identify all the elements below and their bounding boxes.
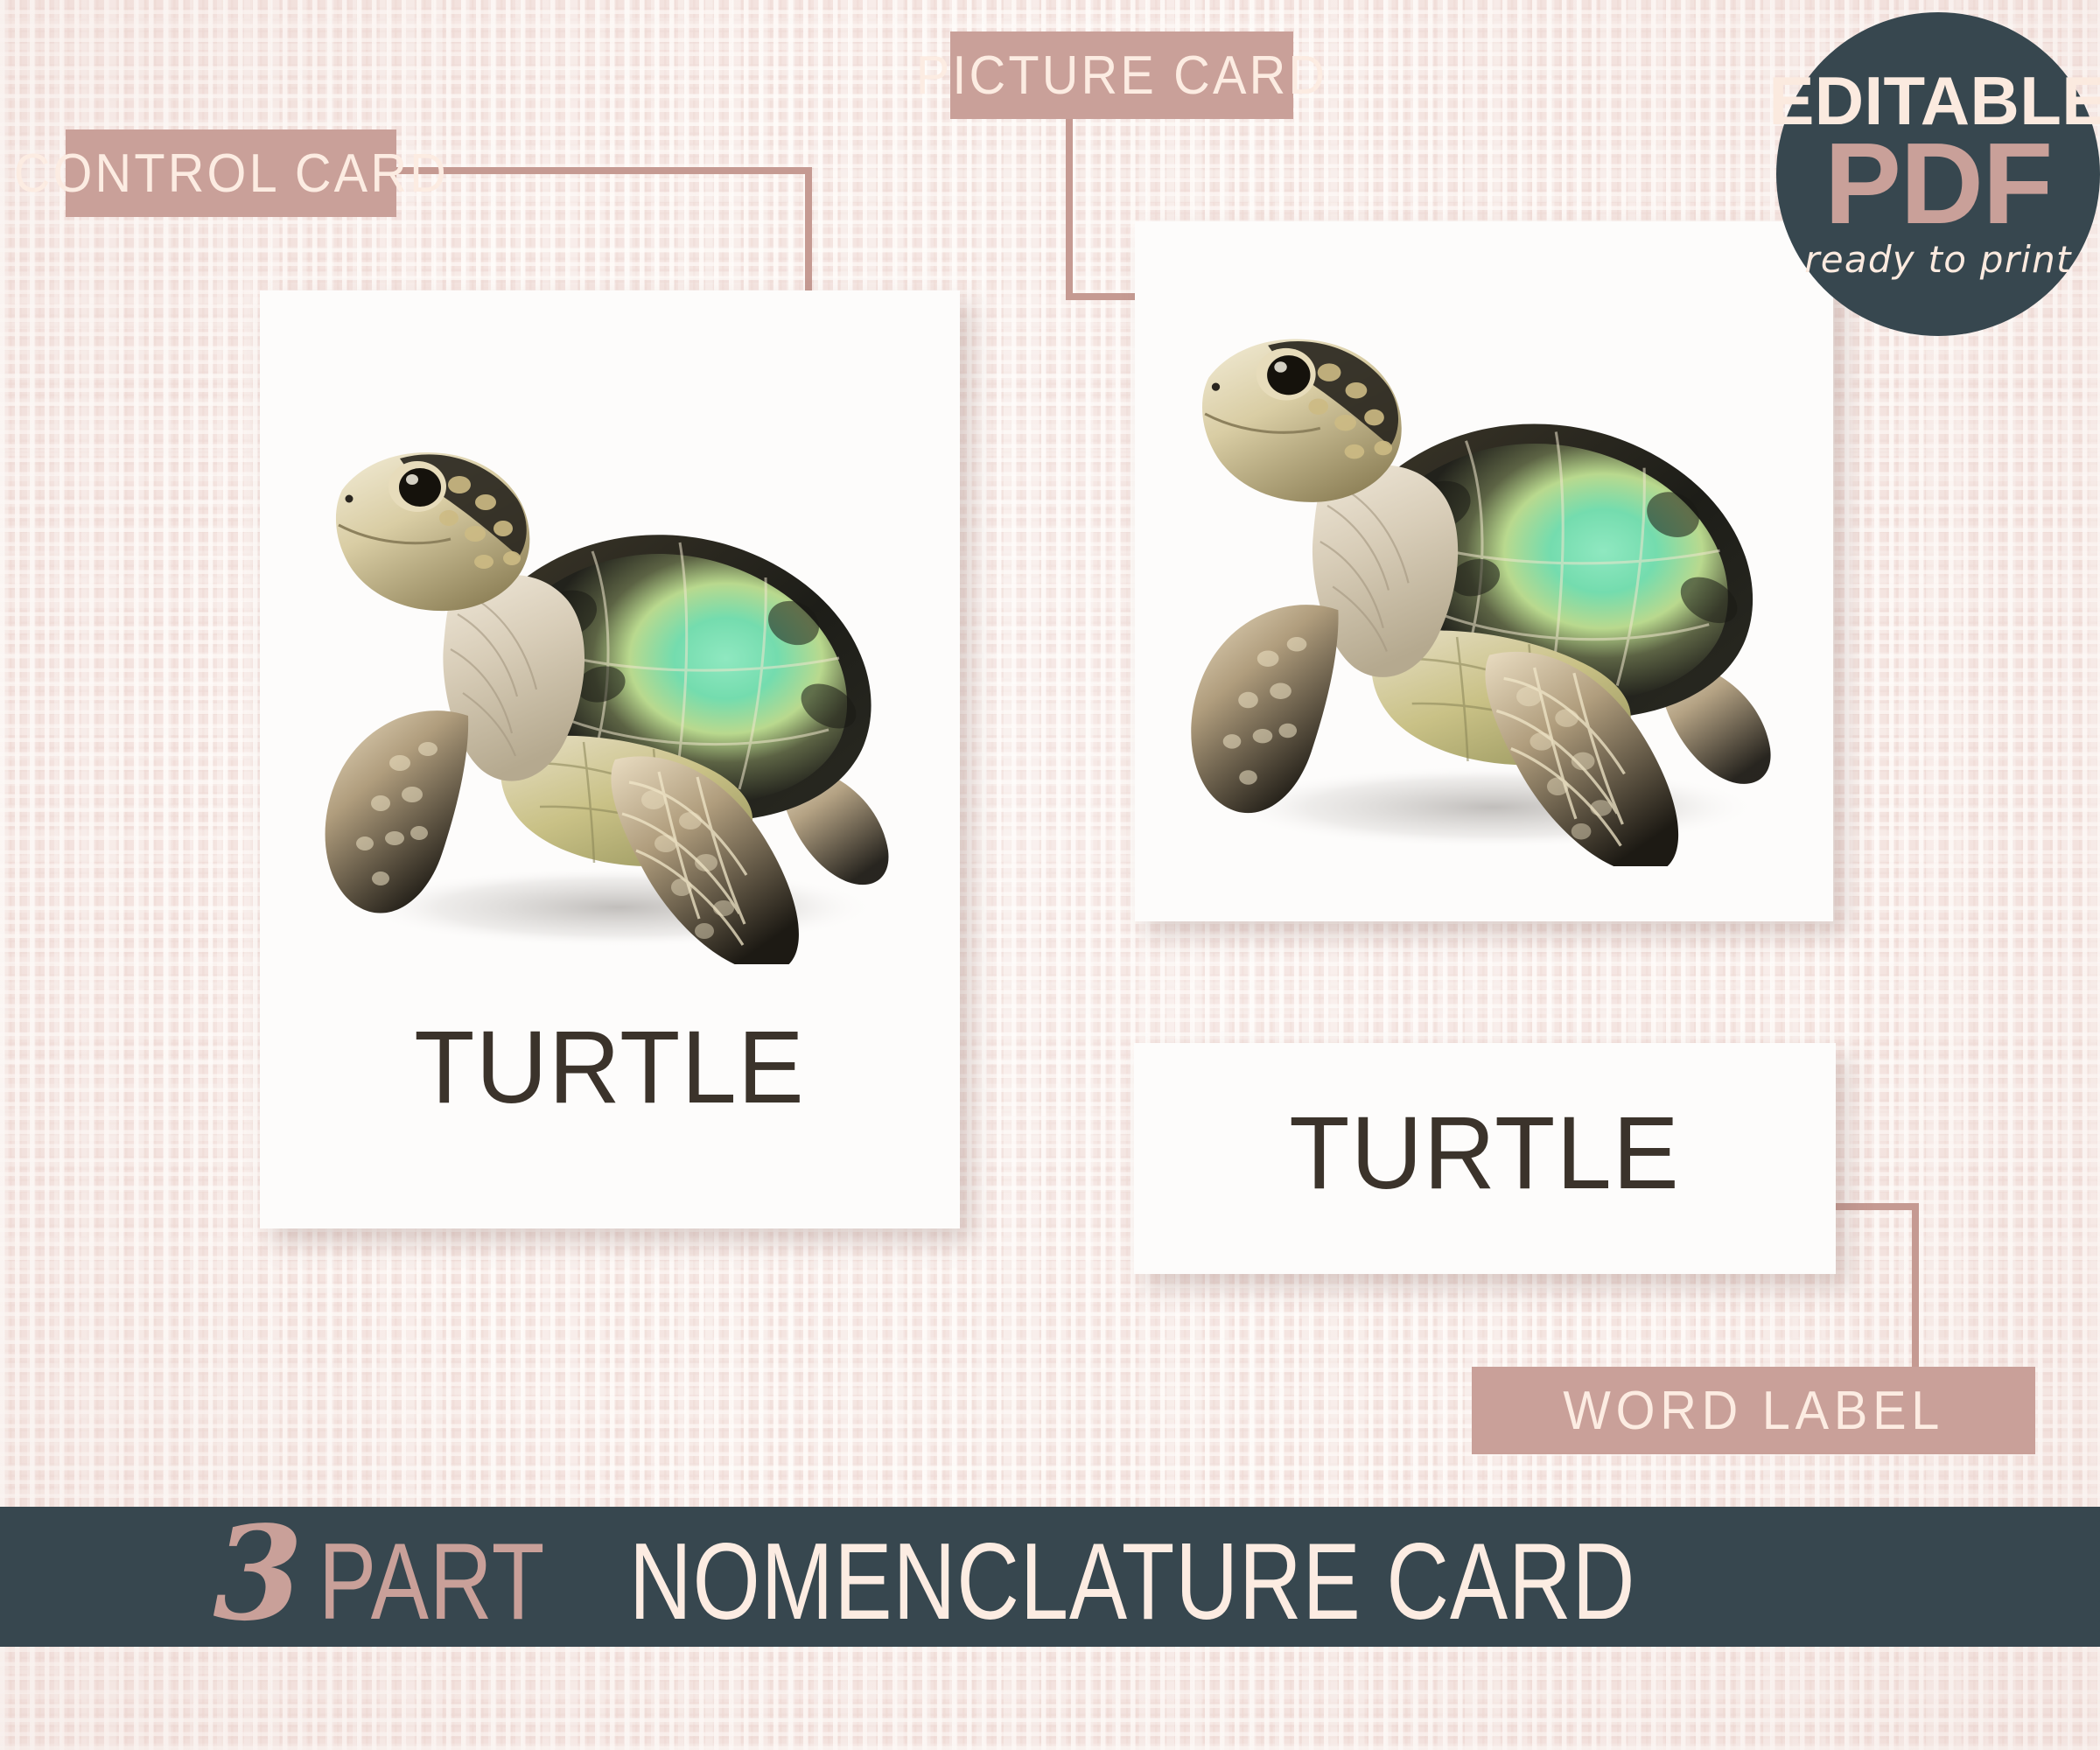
banner-title-text: NOMENCLATURE CARD [629, 1528, 1635, 1636]
banner-title-label: NOMENCLATURE CARD [629, 1528, 1887, 1636]
sea-turtle-icon [304, 395, 916, 964]
sea-turtle-icon [1169, 280, 1799, 866]
callout-picture-card[interactable]: PICTURE CARD [950, 31, 1293, 119]
picture-card[interactable] [1135, 221, 1833, 921]
word-label-card-word: TURTLE [1134, 1094, 1836, 1213]
connector-picture-vertical [1066, 112, 1073, 300]
callout-control-card-label: CONTROL CARD [13, 143, 448, 205]
badge-ready-to-print-label: ready to print [1804, 238, 2072, 281]
banner-part-text: PART [318, 1528, 545, 1636]
callout-word-label[interactable]: WORD LABEL [1472, 1367, 2035, 1454]
poster-canvas: CONTROL CARD PICTURE CARD WORD LABEL [0, 0, 2100, 1750]
connector-word-vertical [1912, 1203, 1919, 1374]
control-card-word-text: TURTLE [415, 1008, 806, 1127]
word-label-card-word-text: TURTLE [1290, 1094, 1681, 1213]
connector-control-horizontal [396, 167, 812, 174]
banner-part-label: PART [318, 1528, 602, 1636]
bottom-banner: 3 PART NOMENCLATURE CARD [0, 1507, 2100, 1647]
control-card-word: TURTLE [260, 1008, 960, 1127]
editable-pdf-badge[interactable]: EDITABLE PDF ready to print [1776, 12, 2100, 336]
control-card[interactable]: TURTLE [260, 290, 960, 1228]
callout-word-label-label: WORD LABEL [1563, 1380, 1944, 1442]
control-card-image [260, 382, 960, 977]
banner-number: 3 [213, 1508, 303, 1638]
word-label-card[interactable]: TURTLE [1134, 1043, 1836, 1274]
bottom-banner-inner: 3 PART NOMENCLATURE CARD [213, 1508, 1886, 1638]
callout-picture-card-label: PICTURE CARD [916, 45, 1328, 107]
callout-control-card[interactable]: CONTROL CARD [66, 129, 396, 217]
picture-card-image [1135, 267, 1833, 879]
badge-pdf-label: PDF [1824, 130, 2052, 236]
